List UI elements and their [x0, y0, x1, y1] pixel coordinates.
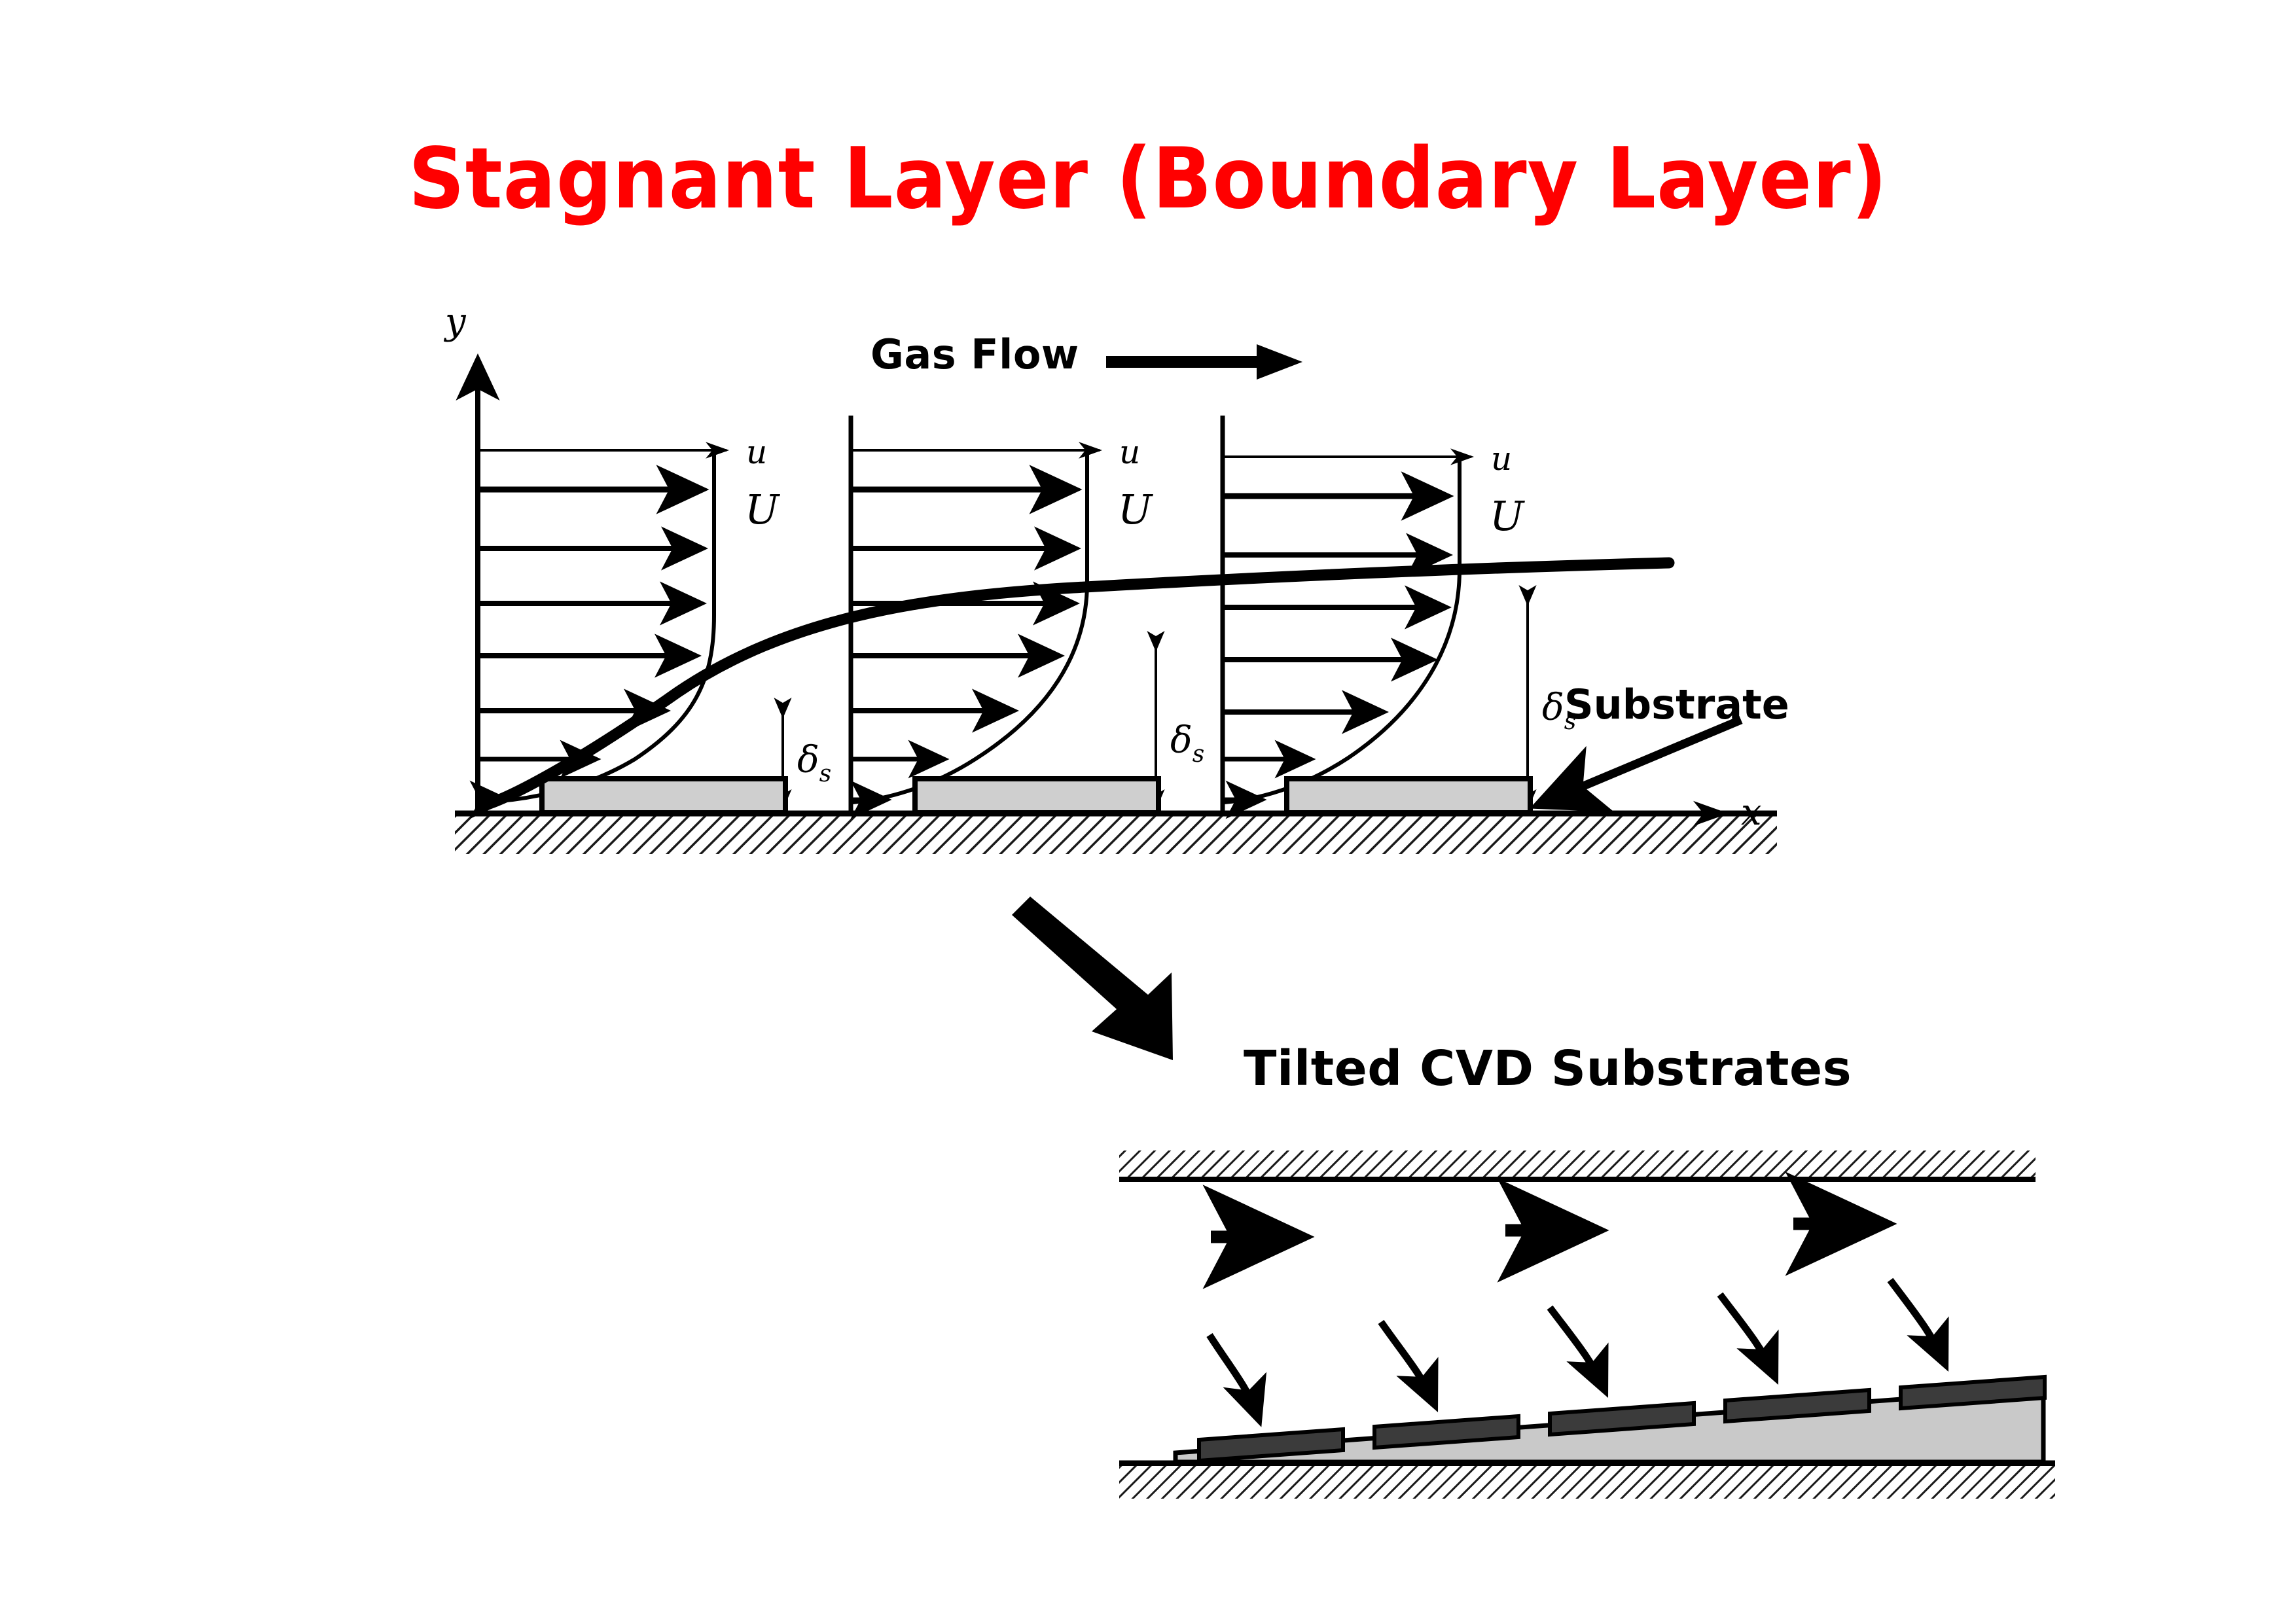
reactor-ceiling-hatching [1119, 1150, 2036, 1179]
velocity-profile-panel-1 [478, 361, 785, 815]
reactor-floor-hatching [1119, 1463, 2055, 1499]
gas-flow-label: Gas Flow [870, 330, 1079, 378]
gas-flow-arrow [1106, 340, 1316, 386]
U-label-panel-1: U [745, 486, 780, 533]
y-axis-label: y [443, 301, 467, 343]
ground-hatching [455, 813, 1777, 854]
curved-arrow-5 [1890, 1280, 1943, 1359]
u-label-panel-3: u [1491, 440, 1512, 478]
tilted-cvd-substrates-title: Tilted CVD Substrates [1244, 1041, 1852, 1097]
U-label-panel-2: U [1118, 486, 1153, 533]
boundary-layer-growth-curve [481, 563, 1669, 806]
curved-arrow-2 [1381, 1322, 1432, 1399]
x-axis-label: x [1741, 791, 1762, 834]
curved-arrow-4 [1720, 1294, 1772, 1372]
transition-down-arrow [1008, 897, 1204, 1067]
velocity-profile-panel-2 [851, 416, 1158, 815]
lower-flow-arrows [1211, 1224, 1878, 1237]
u-label-panel-2: u [1119, 433, 1140, 471]
velocity-profile-panel-3 [1223, 416, 1530, 815]
curved-arrow-3 [1550, 1308, 1602, 1385]
U-label-panel-3: U [1490, 492, 1525, 540]
substrate-label: Substrate [1564, 681, 1789, 728]
delta-s-label-panel-1: δs [797, 739, 831, 787]
u-label-panel-1: u [746, 433, 767, 471]
lower-diagram-container [1106, 1139, 2088, 1505]
page-title: Stagnant Layer (Boundary Layer) [81, 137, 2215, 221]
delta-s-label-panel-2: δs [1170, 719, 1204, 768]
curved-arrow-1 [1210, 1335, 1257, 1414]
